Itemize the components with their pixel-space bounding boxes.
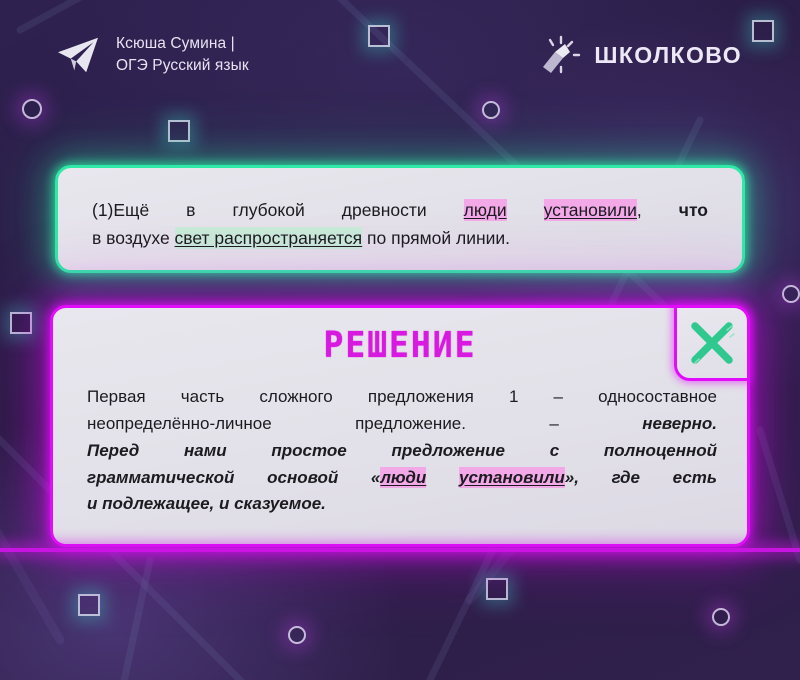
spark-flashlight-icon — [536, 33, 582, 77]
slide-canvas: Ксюша Сумина | ОГЭ Русский язык ШКОЛКОВО — [0, 0, 800, 680]
highlight-ustanovili: установили — [544, 199, 637, 221]
solution-title: РЕШЕНИЕ — [323, 323, 476, 365]
glowing-square-outline — [168, 120, 190, 142]
solution-header: РЕШЕНИЕ — [53, 308, 747, 380]
glowing-circle-outline — [288, 626, 306, 644]
quote-line-2: в воздухе свет распространяется по прямо… — [92, 224, 708, 252]
school-brand: ШКОЛКОВО — [536, 33, 742, 77]
glowing-circle-outline — [712, 608, 730, 626]
highlight-ustanovili: установили — [459, 467, 565, 488]
solution-card: РЕШЕНИЕ Первая часть сложного предложени… — [50, 305, 750, 547]
glowing-square-outline — [78, 594, 100, 616]
channel-brand: Ксюша Сумина | ОГЭ Русский язык — [56, 33, 249, 77]
glowing-circle-outline — [782, 285, 800, 303]
highlight-lyudi: люди — [464, 199, 507, 221]
slide-header: Ксюша Сумина | ОГЭ Русский язык ШКОЛКОВО — [0, 0, 800, 110]
quote-line-1: (1)Ещё в глубокой древности люди установ… — [92, 196, 708, 224]
telegram-paper-plane-icon — [56, 35, 100, 75]
solution-line-5: и подлежащее, и сказуемое. — [87, 491, 717, 518]
bottom-glow-strip — [0, 548, 800, 552]
highlight-lyudi: люди — [380, 467, 426, 488]
bold-chto: что — [679, 200, 708, 220]
solution-line-2: неопределённо-личное предложение. – неве… — [87, 411, 717, 438]
solution-line-1: Первая часть сложного предложения 1 – од… — [87, 384, 717, 411]
solution-line-4: грамматической основой «люди установили»… — [87, 465, 717, 492]
verdict-word: неверно. — [642, 414, 717, 433]
green-cross-x-icon — [687, 318, 737, 368]
solution-line-3: Перед нами простое предложение с полноце… — [87, 438, 717, 465]
glowing-square-outline — [10, 312, 32, 334]
quote-text: (1)Ещё в глубокой древности люди установ… — [58, 168, 742, 253]
quote-card: (1)Ещё в глубокой древности люди установ… — [55, 165, 745, 273]
verdict-badge — [674, 305, 750, 381]
solution-text: Первая часть сложного предложения 1 – од… — [53, 380, 747, 518]
channel-name: Ксюша Сумина | ОГЭ Русский язык — [116, 33, 249, 77]
glowing-square-outline — [486, 578, 508, 600]
school-brand-name: ШКОЛКОВО — [594, 42, 742, 69]
highlight-svet-rasprostranyaetsya: свет распространяется — [175, 227, 363, 249]
